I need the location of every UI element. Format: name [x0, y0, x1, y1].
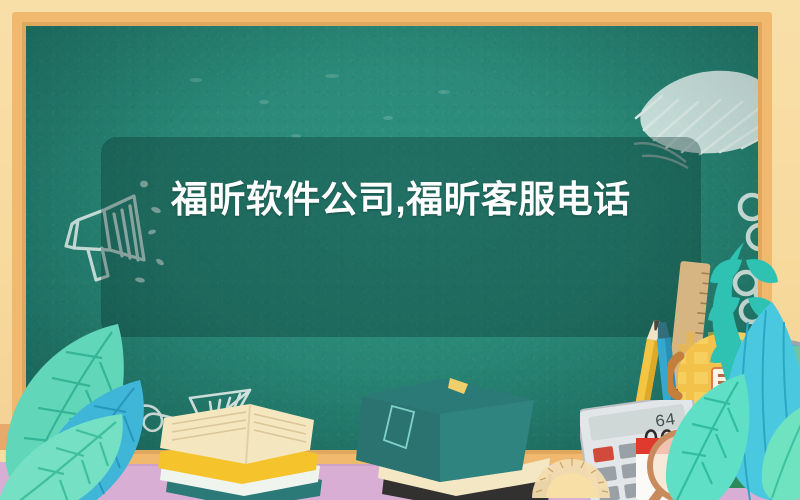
leaf-icon — [756, 400, 800, 500]
page-title: 福昕软件公司,福昕客服电话 — [171, 174, 641, 226]
leaf-icon — [0, 404, 130, 500]
headline-overlay-panel — [101, 137, 701, 337]
protractor-icon — [528, 436, 614, 500]
leaf-icon — [660, 370, 756, 500]
books-stack-icon — [154, 400, 324, 500]
books-stack-icon — [356, 378, 556, 500]
banner-canvas: 福昕软件公司,福昕客服电话 — [0, 0, 800, 500]
